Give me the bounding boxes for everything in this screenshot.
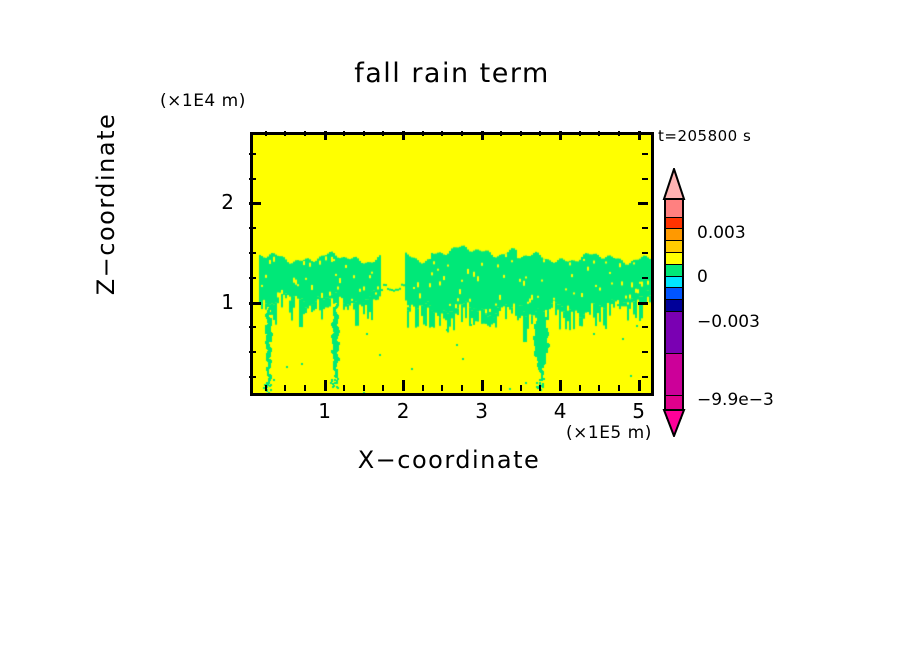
tick-mark: [598, 131, 600, 136]
heatmap-image: [253, 135, 651, 393]
tick-mark: [249, 178, 256, 180]
x-tick-label: 1: [305, 399, 345, 423]
tick-mark: [579, 385, 581, 391]
tick-mark: [304, 131, 306, 136]
colorbar-top-arrow-icon: [661, 168, 687, 200]
tick-mark: [249, 252, 256, 254]
tick-mark: [642, 178, 648, 180]
tick-mark: [638, 380, 641, 391]
tick-mark: [642, 153, 648, 155]
tick-mark: [249, 202, 261, 205]
tick-mark: [441, 131, 443, 136]
x-axis-title: X−coordinate: [250, 446, 648, 474]
tick-mark: [500, 131, 502, 136]
x-tick-label: 3: [462, 399, 502, 423]
tick-mark: [249, 326, 256, 328]
tick-mark: [598, 385, 600, 391]
y-axis-unit-label: (×1E4 m): [160, 91, 246, 111]
tick-mark: [284, 131, 286, 136]
tick-mark: [642, 351, 648, 353]
tick-mark: [481, 380, 484, 391]
x-axis-unit-label: (×1E5 m): [566, 423, 652, 443]
tick-mark: [642, 252, 648, 254]
tick-mark: [249, 153, 256, 155]
tick-mark: [642, 227, 648, 229]
tick-mark: [559, 131, 562, 140]
tick-mark: [539, 131, 541, 136]
tick-mark: [249, 302, 261, 305]
colorbar-bottom-arrow-icon: [661, 409, 687, 437]
page-title: fall rain term: [0, 58, 904, 89]
colorbar-tick-label: 0.003: [697, 223, 746, 243]
y-tick-label: 1: [194, 290, 234, 314]
tick-mark: [520, 385, 522, 391]
tick-mark: [249, 351, 256, 353]
colorbar-segment: [666, 241, 682, 253]
colorbar-segment: [666, 288, 682, 300]
colorbar-segment: [666, 229, 682, 241]
figure-canvas: fall rain term (×1E4 m) t=205800 s 12345…: [0, 0, 904, 654]
tick-mark: [461, 131, 463, 136]
tick-mark: [481, 131, 484, 140]
tick-mark: [559, 380, 562, 391]
tick-mark: [618, 131, 620, 136]
tick-mark: [500, 385, 502, 391]
tick-mark: [402, 131, 405, 140]
colorbar-segment: [666, 277, 682, 289]
tick-mark: [265, 131, 267, 136]
tick-mark: [324, 131, 327, 140]
tick-mark: [642, 326, 648, 328]
colorbar-segment: [666, 300, 682, 312]
x-tick-label: 5: [619, 399, 659, 423]
colorbar-tick-label: −9.9e−3: [697, 390, 774, 410]
tick-mark: [363, 385, 365, 391]
tick-mark: [539, 385, 541, 391]
time-annotation: t=205800 s: [658, 127, 751, 145]
colorbar-tick-label: −0.003: [697, 312, 760, 332]
y-axis-title: Z−coordinate: [92, 34, 120, 374]
tick-mark: [642, 277, 648, 279]
tick-mark: [422, 385, 424, 391]
tick-mark: [579, 131, 581, 136]
tick-mark: [363, 131, 365, 136]
tick-mark: [324, 380, 327, 391]
tick-mark: [638, 302, 648, 305]
colorbar-segment: [666, 265, 682, 277]
tick-mark: [249, 227, 256, 229]
tick-mark: [461, 385, 463, 391]
tick-mark: [265, 385, 267, 391]
tick-mark: [304, 385, 306, 391]
colorbar-segment: [666, 218, 682, 230]
colorbar-segment: [666, 312, 682, 354]
tick-mark: [638, 202, 648, 205]
colorbar-segment: [666, 354, 682, 396]
tick-mark: [441, 385, 443, 391]
tick-mark: [638, 131, 641, 140]
tick-mark: [402, 380, 405, 391]
tick-mark: [343, 131, 345, 136]
plot-area: [250, 132, 654, 396]
tick-mark: [520, 131, 522, 136]
colorbar-tick-label: 0: [697, 267, 708, 287]
colorbar-segment: [666, 200, 682, 218]
tick-mark: [642, 376, 648, 378]
tick-mark: [382, 385, 384, 391]
tick-mark: [343, 385, 345, 391]
y-tick-label: 2: [194, 190, 234, 214]
tick-mark: [382, 131, 384, 136]
tick-mark: [284, 385, 286, 391]
tick-mark: [249, 376, 256, 378]
x-tick-label: 2: [383, 399, 423, 423]
x-tick-label: 4: [540, 399, 580, 423]
tick-mark: [249, 277, 256, 279]
colorbar-segment: [666, 253, 682, 265]
tick-mark: [618, 385, 620, 391]
colorbar-gradient: [664, 198, 684, 410]
tick-mark: [422, 131, 424, 136]
